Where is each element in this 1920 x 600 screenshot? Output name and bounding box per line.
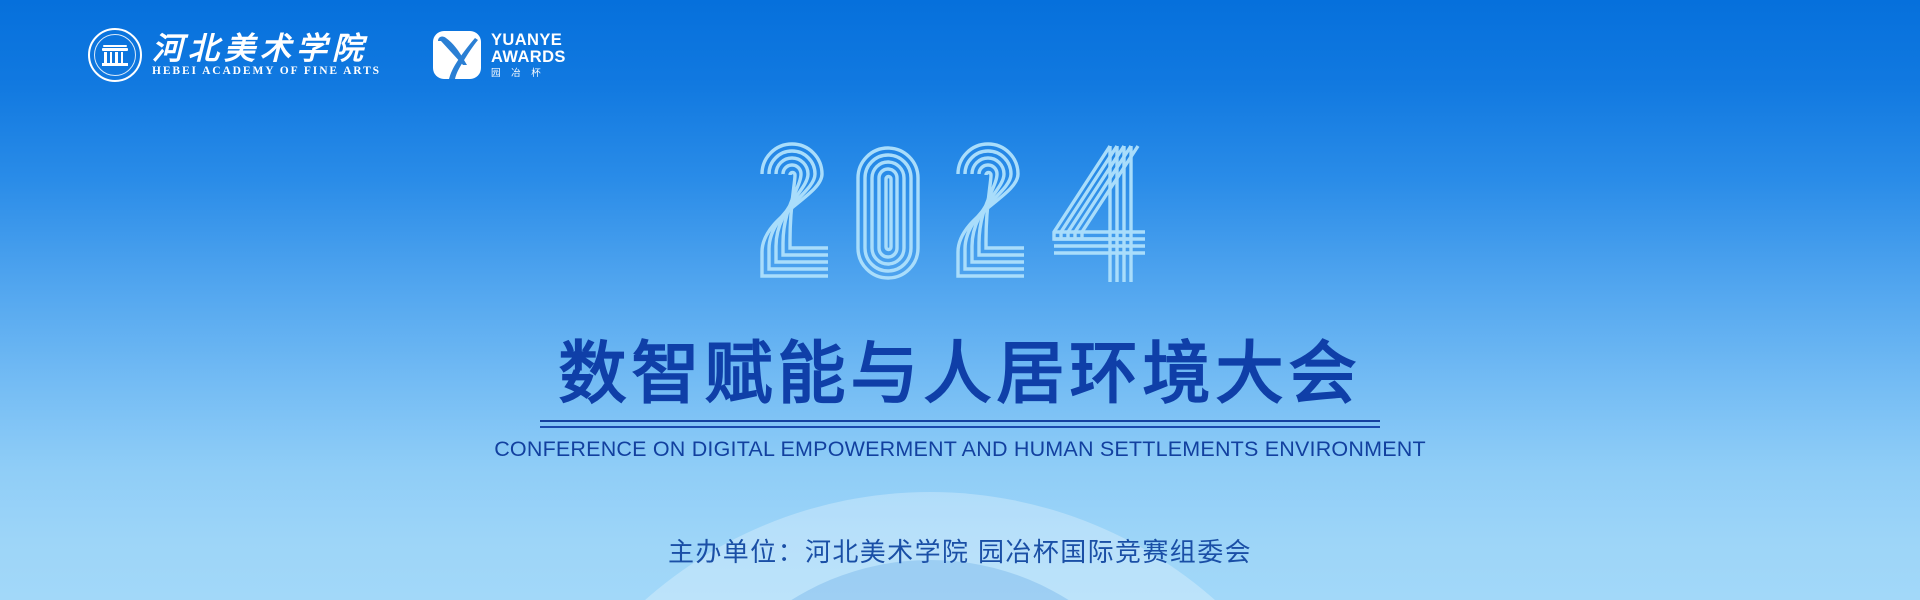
title-divider	[540, 420, 1380, 428]
divider-line-bottom	[540, 426, 1380, 428]
hebei-academy-logo[interactable]: 河北美术学院 HEBEI ACADEMY OF FINE ARTS	[88, 28, 381, 82]
year-2024-graphic	[0, 138, 1920, 288]
yuanye-line2: AWARDS	[491, 49, 566, 66]
yuanye-wordmark: YUANYE AWARDS 园 冶 杯	[491, 32, 566, 79]
organizer-line: 主办单位：河北美术学院 园冶杯国际竞赛组委会	[0, 532, 1920, 569]
academy-gate-glyph	[102, 45, 128, 65]
year-2024-svg	[750, 138, 1170, 288]
conference-banner: 河北美术学院 HEBEI ACADEMY OF FINE ARTS YUANYE…	[0, 0, 1920, 600]
academy-name-en: HEBEI ACADEMY OF FINE ARTS	[152, 66, 381, 78]
yuanye-line1: YUANYE	[491, 32, 566, 49]
page-title: 数智赋能与人居环境大会	[0, 336, 1920, 412]
yuanye-mark-icon	[433, 31, 481, 79]
yuanye-awards-logo[interactable]: YUANYE AWARDS 园 冶 杯	[433, 31, 566, 79]
title-block: 数智赋能与人居环境大会 CONFERENCE ON DIGITAL EMPOWE…	[0, 336, 1920, 462]
yuanye-name-cn: 园 冶 杯	[491, 69, 566, 79]
logo-row: 河北美术学院 HEBEI ACADEMY OF FINE ARTS YUANYE…	[88, 28, 566, 82]
divider-line-top	[540, 420, 1380, 422]
academy-wordmark: 河北美术学院 HEBEI ACADEMY OF FINE ARTS	[152, 33, 381, 78]
page-subtitle: CONFERENCE ON DIGITAL EMPOWERMENT AND HU…	[0, 437, 1920, 462]
academy-name-cn: 河北美术学院	[152, 33, 381, 64]
academy-seal-icon	[88, 28, 142, 82]
